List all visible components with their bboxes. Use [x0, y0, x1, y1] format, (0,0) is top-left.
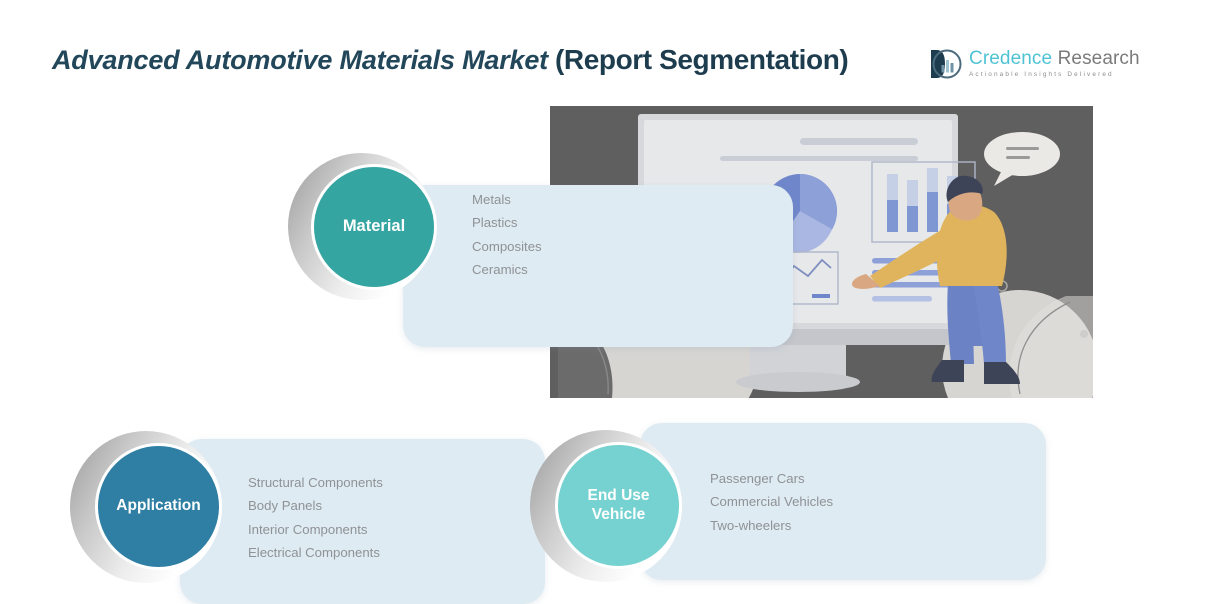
list-item: Composites	[472, 235, 542, 258]
list-item: Commercial Vehicles	[710, 490, 833, 513]
logo-name-secondary: Research	[1058, 48, 1140, 69]
end-use-vehicle-bubble[interactable]: End Use Vehicle	[555, 442, 682, 569]
page-title-sub: (Report Segmentation)	[555, 44, 848, 75]
list-item: Plastics	[472, 211, 542, 234]
material-panel	[403, 185, 793, 347]
material-label: Material	[343, 217, 405, 237]
page-title-main: Advanced Automotive Materials Market	[52, 45, 548, 75]
logo-text: Credence Research Actionable Insights De…	[969, 49, 1140, 78]
page-title: Advanced Automotive Materials Market(Rep…	[52, 44, 848, 76]
logo-tagline: Actionable Insights Delivered	[969, 72, 1140, 78]
segment-card-application: Application Structural Components Body P…	[70, 431, 550, 601]
segment-card-end-use-vehicle: End Use Vehicle Passenger Cars Commercia…	[530, 423, 1050, 593]
application-bubble[interactable]: Application	[95, 443, 222, 570]
header: Advanced Automotive Materials Market(Rep…	[0, 0, 1215, 100]
end-use-vehicle-label-line1: End Use	[587, 487, 649, 504]
list-item: Interior Components	[248, 518, 383, 541]
application-item-list: Structural Components Body Panels Interi…	[248, 471, 383, 564]
logo-name-primary: Credence	[969, 48, 1052, 69]
bar-chart-circle-icon	[928, 47, 962, 81]
material-item-list: Metals Plastics Composites Ceramics	[472, 188, 542, 281]
end-use-vehicle-label-line2: Vehicle	[592, 506, 645, 523]
material-bubble[interactable]: Material	[311, 164, 437, 290]
credence-research-logo: Credence Research Actionable Insights De…	[928, 44, 1140, 84]
segment-card-material: Material Metals Plastics Composites Cera…	[288, 140, 788, 320]
list-item: Ceramics	[472, 258, 542, 281]
list-item: Passenger Cars	[710, 467, 833, 490]
list-item: Body Panels	[248, 494, 383, 517]
logo-name: Credence Research	[969, 49, 1140, 68]
end-use-vehicle-item-list: Passenger Cars Commercial Vehicles Two-w…	[710, 467, 833, 537]
end-use-vehicle-panel	[640, 423, 1046, 580]
application-label: Application	[116, 497, 200, 516]
list-item: Electrical Components	[248, 541, 383, 564]
list-item: Structural Components	[248, 471, 383, 494]
list-item: Metals	[472, 188, 542, 211]
list-item: Two-wheelers	[710, 514, 833, 537]
